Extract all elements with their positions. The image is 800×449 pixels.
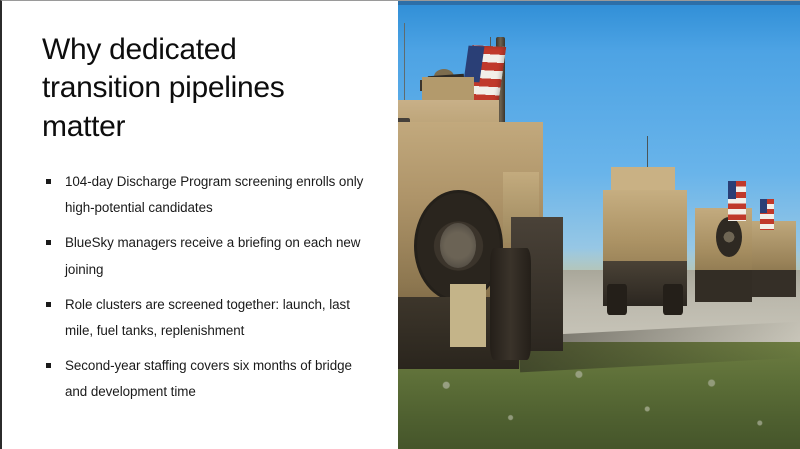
square-bullet-icon: [46, 363, 51, 368]
lead-vehicle-mudflap: [450, 284, 486, 347]
us-flag-canton: [728, 181, 737, 199]
list-item: BlueSky managers receive a briefing on e…: [42, 230, 372, 282]
square-bullet-icon: [46, 302, 51, 307]
list-item: Second-year staffing covers six months o…: [42, 353, 372, 405]
vehicle-2-wheel-right: [663, 284, 683, 315]
list-item-label: 104-day Discharge Program screening enro…: [65, 174, 363, 215]
list-item: Role clusters are screened together: lau…: [42, 292, 372, 344]
vehicle-3-spare-tire: [716, 217, 742, 257]
text-panel: Why dedicated transition pipelines matte…: [2, 1, 398, 449]
convoy-photo: [398, 1, 800, 449]
us-flag-canton: [760, 199, 767, 213]
sky-top-band: [398, 1, 800, 5]
list-item-label: BlueSky managers receive a briefing on e…: [65, 235, 360, 276]
vehicle-2-wheel-left: [607, 284, 627, 315]
vehicle-3-undercarriage: [695, 270, 751, 301]
page-title: Why dedicated transition pipelines matte…: [42, 31, 342, 146]
slide-canvas: Why dedicated transition pipelines matte…: [0, 0, 800, 449]
square-bullet-icon: [46, 240, 51, 245]
list-item-label: Role clusters are screened together: lau…: [65, 297, 350, 338]
vehicle-4-undercarriage: [752, 270, 796, 297]
list-item: 104-day Discharge Program screening enro…: [42, 169, 372, 221]
square-bullet-icon: [46, 179, 51, 184]
bullet-list: 104-day Discharge Program screening enro…: [42, 169, 380, 405]
list-item-label: Second-year staffing covers six months o…: [65, 358, 352, 399]
lead-vehicle-rear-wheel: [490, 248, 530, 360]
